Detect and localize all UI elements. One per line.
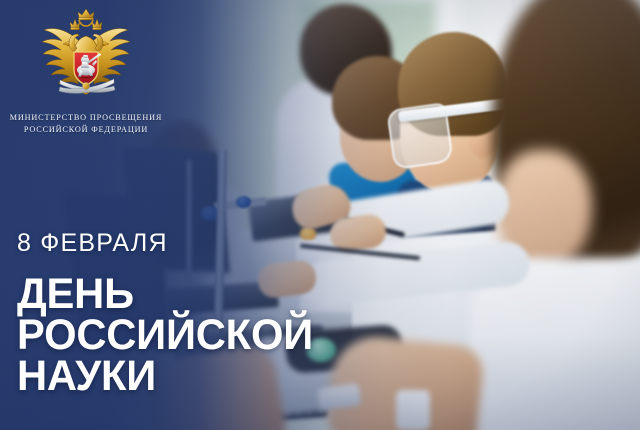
headline-line-2: РОССИЙСКОЙ bbox=[17, 315, 337, 356]
headline-line-1: ДЕНЬ bbox=[17, 274, 337, 315]
ministry-logo-block: Министерство просвещения Российской Феде… bbox=[0, 8, 172, 135]
date-eyebrow: 8 ФЕВРАЛЯ bbox=[17, 228, 347, 258]
headline-block: 8 ФЕВРАЛЯ ДЕНЬ РОССИЙСКОЙ НАУКИ bbox=[17, 228, 347, 397]
poster-banner: Министерство просвещения Российской Феде… bbox=[0, 0, 640, 430]
double-headed-eagle-emblem bbox=[34, 8, 138, 106]
page-title: ДЕНЬ РОССИЙСКОЙ НАУКИ bbox=[17, 274, 337, 397]
headline-line-3: НАУКИ bbox=[17, 356, 337, 397]
ministry-caption: Министерство просвещения Российской Феде… bbox=[0, 112, 172, 135]
